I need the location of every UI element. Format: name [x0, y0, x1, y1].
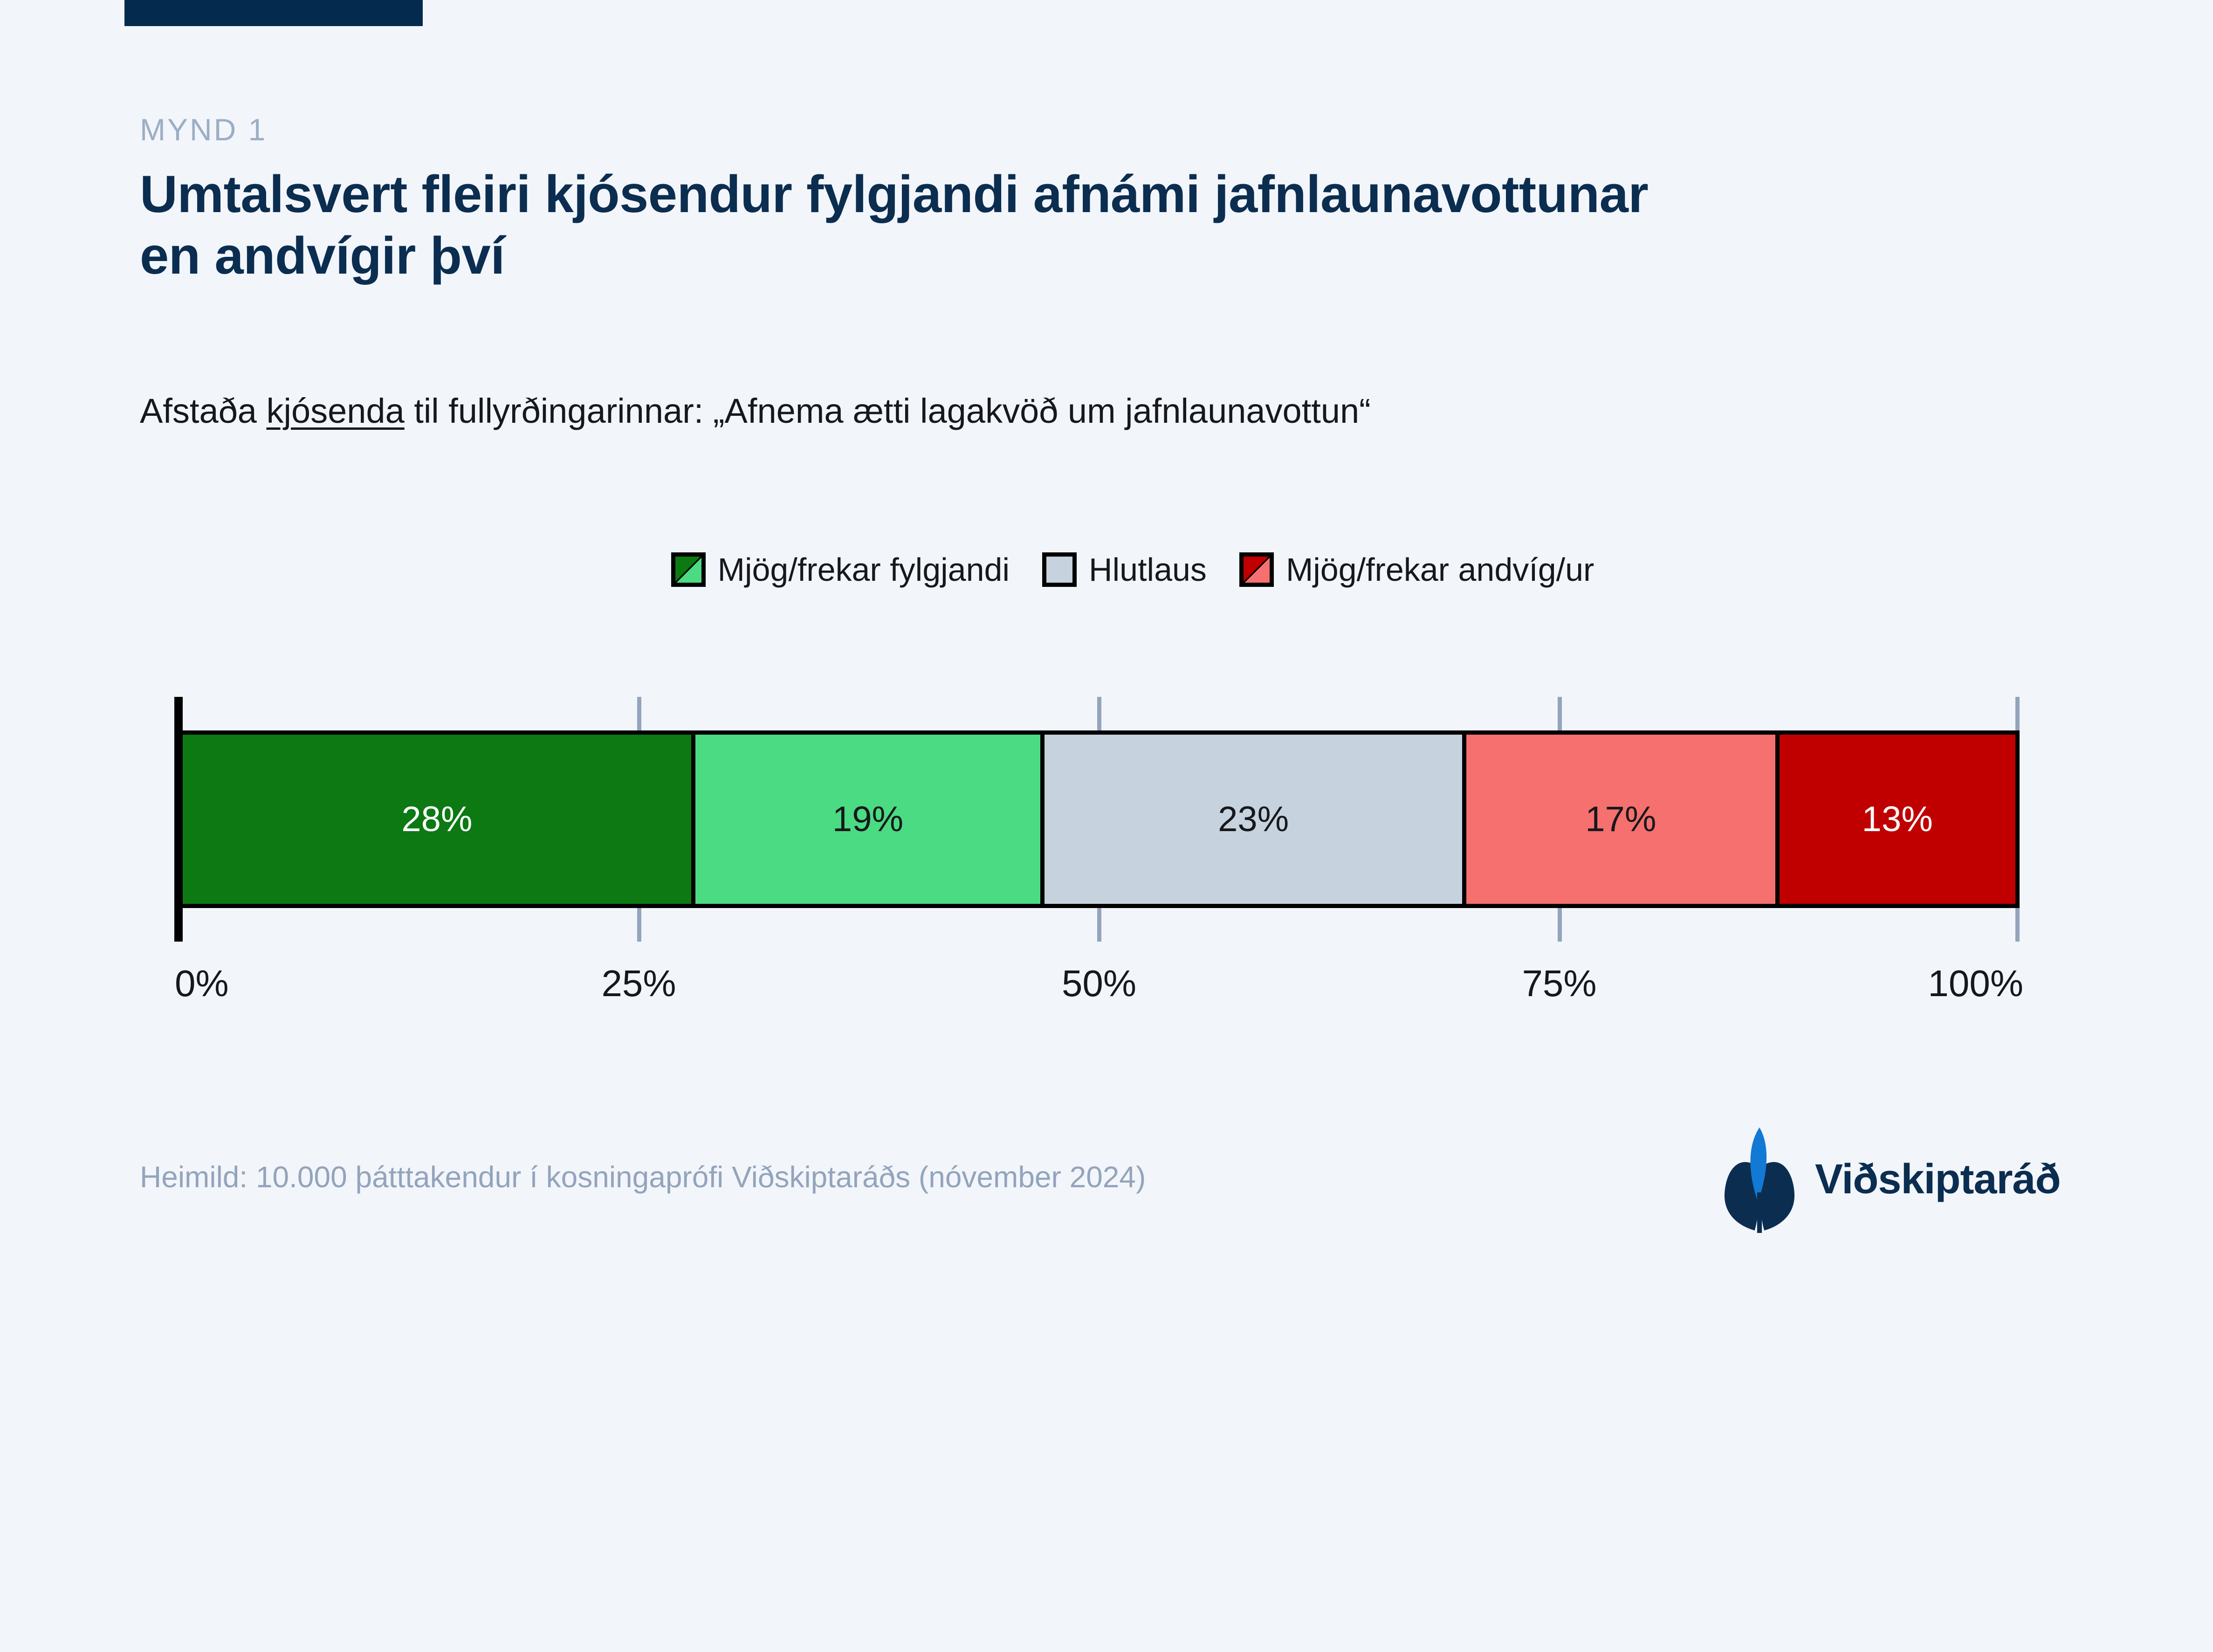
legend-label-fylgjandi: Mjög/frekar fylgjandi	[718, 553, 1010, 586]
x-axis-labels: 0%25%50%75%100%	[0, 965, 2213, 1016]
x-axis-tick	[637, 908, 641, 942]
bar-segment: 28%	[183, 735, 691, 904]
legend-label-hlutlaus: Hlutlaus	[1089, 553, 1207, 586]
chart-plot-area: 28%19%23%17%13%	[179, 697, 2020, 942]
legend-swatch-icon-hlutlaus	[1042, 552, 1077, 587]
x-axis-tick	[179, 697, 183, 730]
x-axis-tick	[2015, 908, 2020, 942]
bar-segment: 19%	[691, 735, 1040, 904]
top-accent-bar	[124, 0, 423, 26]
legend-swatch-icon-andvig	[1239, 552, 1274, 587]
x-axis-label: 0%	[175, 965, 229, 1002]
bar-segment-label: 13%	[1862, 802, 1933, 837]
chart-legend: Mjög/frekar fylgjandi Hlutlaus Mjög/frek…	[140, 552, 2125, 587]
bar-segment: 23%	[1040, 735, 1462, 904]
x-axis-tick	[637, 697, 641, 730]
brand-logo: Viðskiptaráð	[1720, 1126, 2061, 1233]
x-axis-tick	[179, 908, 183, 942]
x-axis-tick	[1097, 697, 1101, 730]
legend-item-andvig[interactable]: Mjög/frekar andvíg/ur	[1239, 552, 1594, 587]
wheat-leaf-icon	[1720, 1126, 1799, 1233]
chart-subtitle: Afstaða kjósenda til fullyrðingarinnar: …	[140, 391, 1371, 432]
subtitle-part-1: Afstaða	[140, 392, 267, 430]
page-title: Umtalsvert fleiri kjósendur fylgjandi af…	[140, 164, 2125, 287]
subtitle-part-2: til fullyrðingarinnar: „Afnema ætti laga…	[405, 392, 1371, 430]
figure-kicker: MYND 1	[140, 114, 2125, 145]
bar-segment: 17%	[1462, 735, 1775, 904]
legend-swatch-icon-fylgjandi	[671, 552, 706, 587]
legend-item-hlutlaus[interactable]: Hlutlaus	[1042, 552, 1207, 587]
x-axis-label: 25%	[601, 965, 676, 1002]
header-block: MYND 1 Umtalsvert fleiri kjósendur fylgj…	[140, 114, 2125, 287]
x-axis-label: 100%	[1928, 965, 2023, 1002]
x-axis-tick	[2015, 697, 2020, 730]
legend-item-fylgjandi[interactable]: Mjög/frekar fylgjandi	[671, 552, 1010, 587]
x-axis-label: 50%	[1062, 965, 1136, 1002]
bar-segment-label: 17%	[1585, 802, 1656, 837]
x-axis-tick	[1558, 697, 1562, 730]
y-axis-line	[174, 697, 179, 942]
x-axis-label: 75%	[1522, 965, 1596, 1002]
bar-segment-label: 28%	[401, 802, 472, 837]
legend-label-andvig: Mjög/frekar andvíg/ur	[1286, 553, 1594, 586]
stacked-bar: 28%19%23%17%13%	[179, 730, 2020, 908]
bar-segment: 13%	[1775, 735, 2015, 904]
x-axis-tick	[1097, 908, 1101, 942]
brand-name: Viðskiptaráð	[1815, 1158, 2061, 1200]
bar-segment-label: 23%	[1218, 802, 1289, 837]
source-note: Heimild: 10.000 þátttakendur í kosningap…	[140, 1159, 1146, 1195]
x-axis-tick	[1558, 908, 1562, 942]
subtitle-underlined-word: kjósenda	[267, 392, 405, 430]
bar-segment-label: 19%	[832, 802, 903, 837]
